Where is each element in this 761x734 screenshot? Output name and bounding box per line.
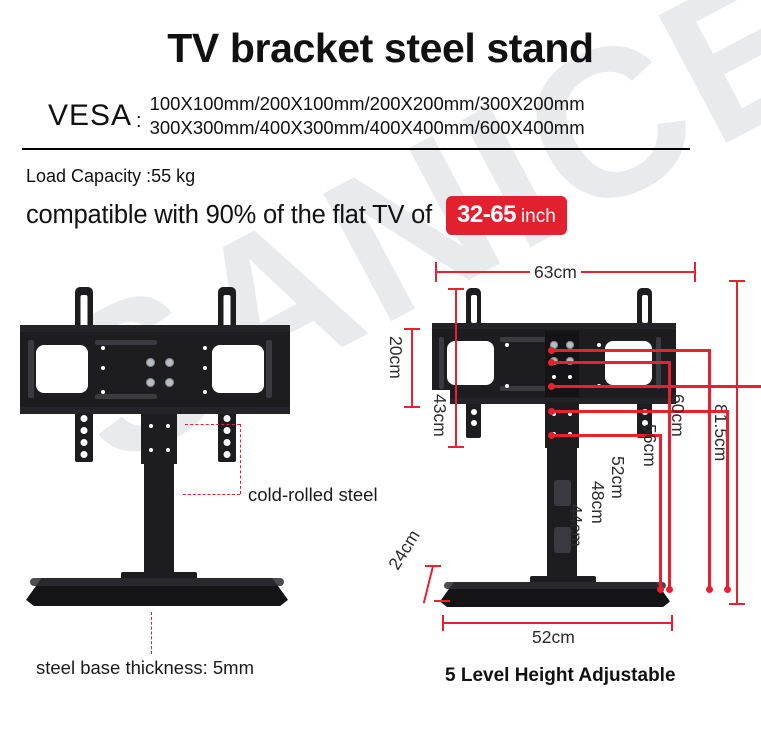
height-level-label-56: 56cm — [639, 420, 660, 471]
left-vesa-screw-2 — [165, 358, 174, 367]
dim-line-bracket-43 — [455, 288, 457, 448]
left-column-mount — [141, 412, 177, 464]
header-divider — [22, 148, 690, 150]
vesa-values-line-1: 100X100mm/200X100mm/200X200mm/300X200mm — [150, 92, 585, 116]
vesa-values-line-2: 300X300mm/400X300mm/400X400mm/600X400mm — [150, 116, 585, 140]
tv-size-unit: inch — [521, 206, 556, 228]
right-figure-caption: 5 Level Height Adjustable — [445, 665, 676, 687]
left-plate-cutout-left — [36, 345, 88, 393]
dim-label-plate-20: 20cm — [385, 332, 406, 383]
left-vesa-screw-4 — [165, 378, 174, 387]
material-leader-vertical — [240, 424, 241, 494]
dim-line-plate-20 — [411, 328, 413, 408]
right-vesa-screw-2 — [566, 341, 574, 349]
height-level-label-44: 44cm — [565, 500, 586, 551]
load-capacity-text: Load Capacity :55 kg — [26, 166, 195, 187]
height-level-label-48: 48cm — [587, 477, 608, 528]
dim-line-base-52 — [443, 622, 673, 624]
left-plate-cutout-right — [212, 345, 264, 393]
vesa-values: 100X100mm/200X100mm/200X200mm/300X200mm … — [150, 92, 585, 139]
compatibility-text: compatible with 90% of the flat TV of — [26, 201, 432, 230]
left-plate-top-lip — [20, 325, 290, 332]
dim-line-height-815 — [736, 280, 738, 605]
dim-label-width-63: 63cm — [530, 262, 581, 283]
compatibility-row: compatible with 90% of the flat TV of 32… — [26, 196, 567, 235]
dim-label-bracket-43: 43cm — [429, 390, 450, 441]
height-level-label-60: 60cm — [667, 390, 688, 441]
infographic-canvas: SANICE TV bracket steel stand VESA : 100… — [0, 0, 761, 734]
vesa-colon: : — [132, 110, 150, 133]
base-thickness-label: steel base thickness: 5mm — [36, 657, 254, 679]
tv-size-badge: 32-65 inch — [446, 196, 567, 235]
tv-size-range: 32-65 — [457, 201, 516, 229]
vesa-label: VESA — [22, 99, 132, 133]
material-leader-horizontal-2 — [183, 494, 240, 495]
page-title: TV bracket steel stand — [0, 28, 761, 69]
base-thickness-leader — [151, 612, 152, 654]
left-pole — [144, 462, 174, 586]
height-level-label-52: 52cm — [607, 452, 628, 503]
dim-label-depth-24: 24cm — [382, 523, 427, 577]
material-leader-horizontal — [185, 424, 240, 425]
vesa-spec-row: VESA : 100X100mm/200X100mm/200X200mm/300… — [22, 92, 690, 139]
left-vesa-screw-1 — [146, 358, 155, 367]
dim-label-base-52: 52cm — [528, 627, 579, 648]
dim-line-depth-24 — [423, 566, 434, 603]
left-vesa-screw-3 — [146, 378, 155, 387]
cold-rolled-steel-label: cold-rolled steel — [248, 484, 378, 506]
